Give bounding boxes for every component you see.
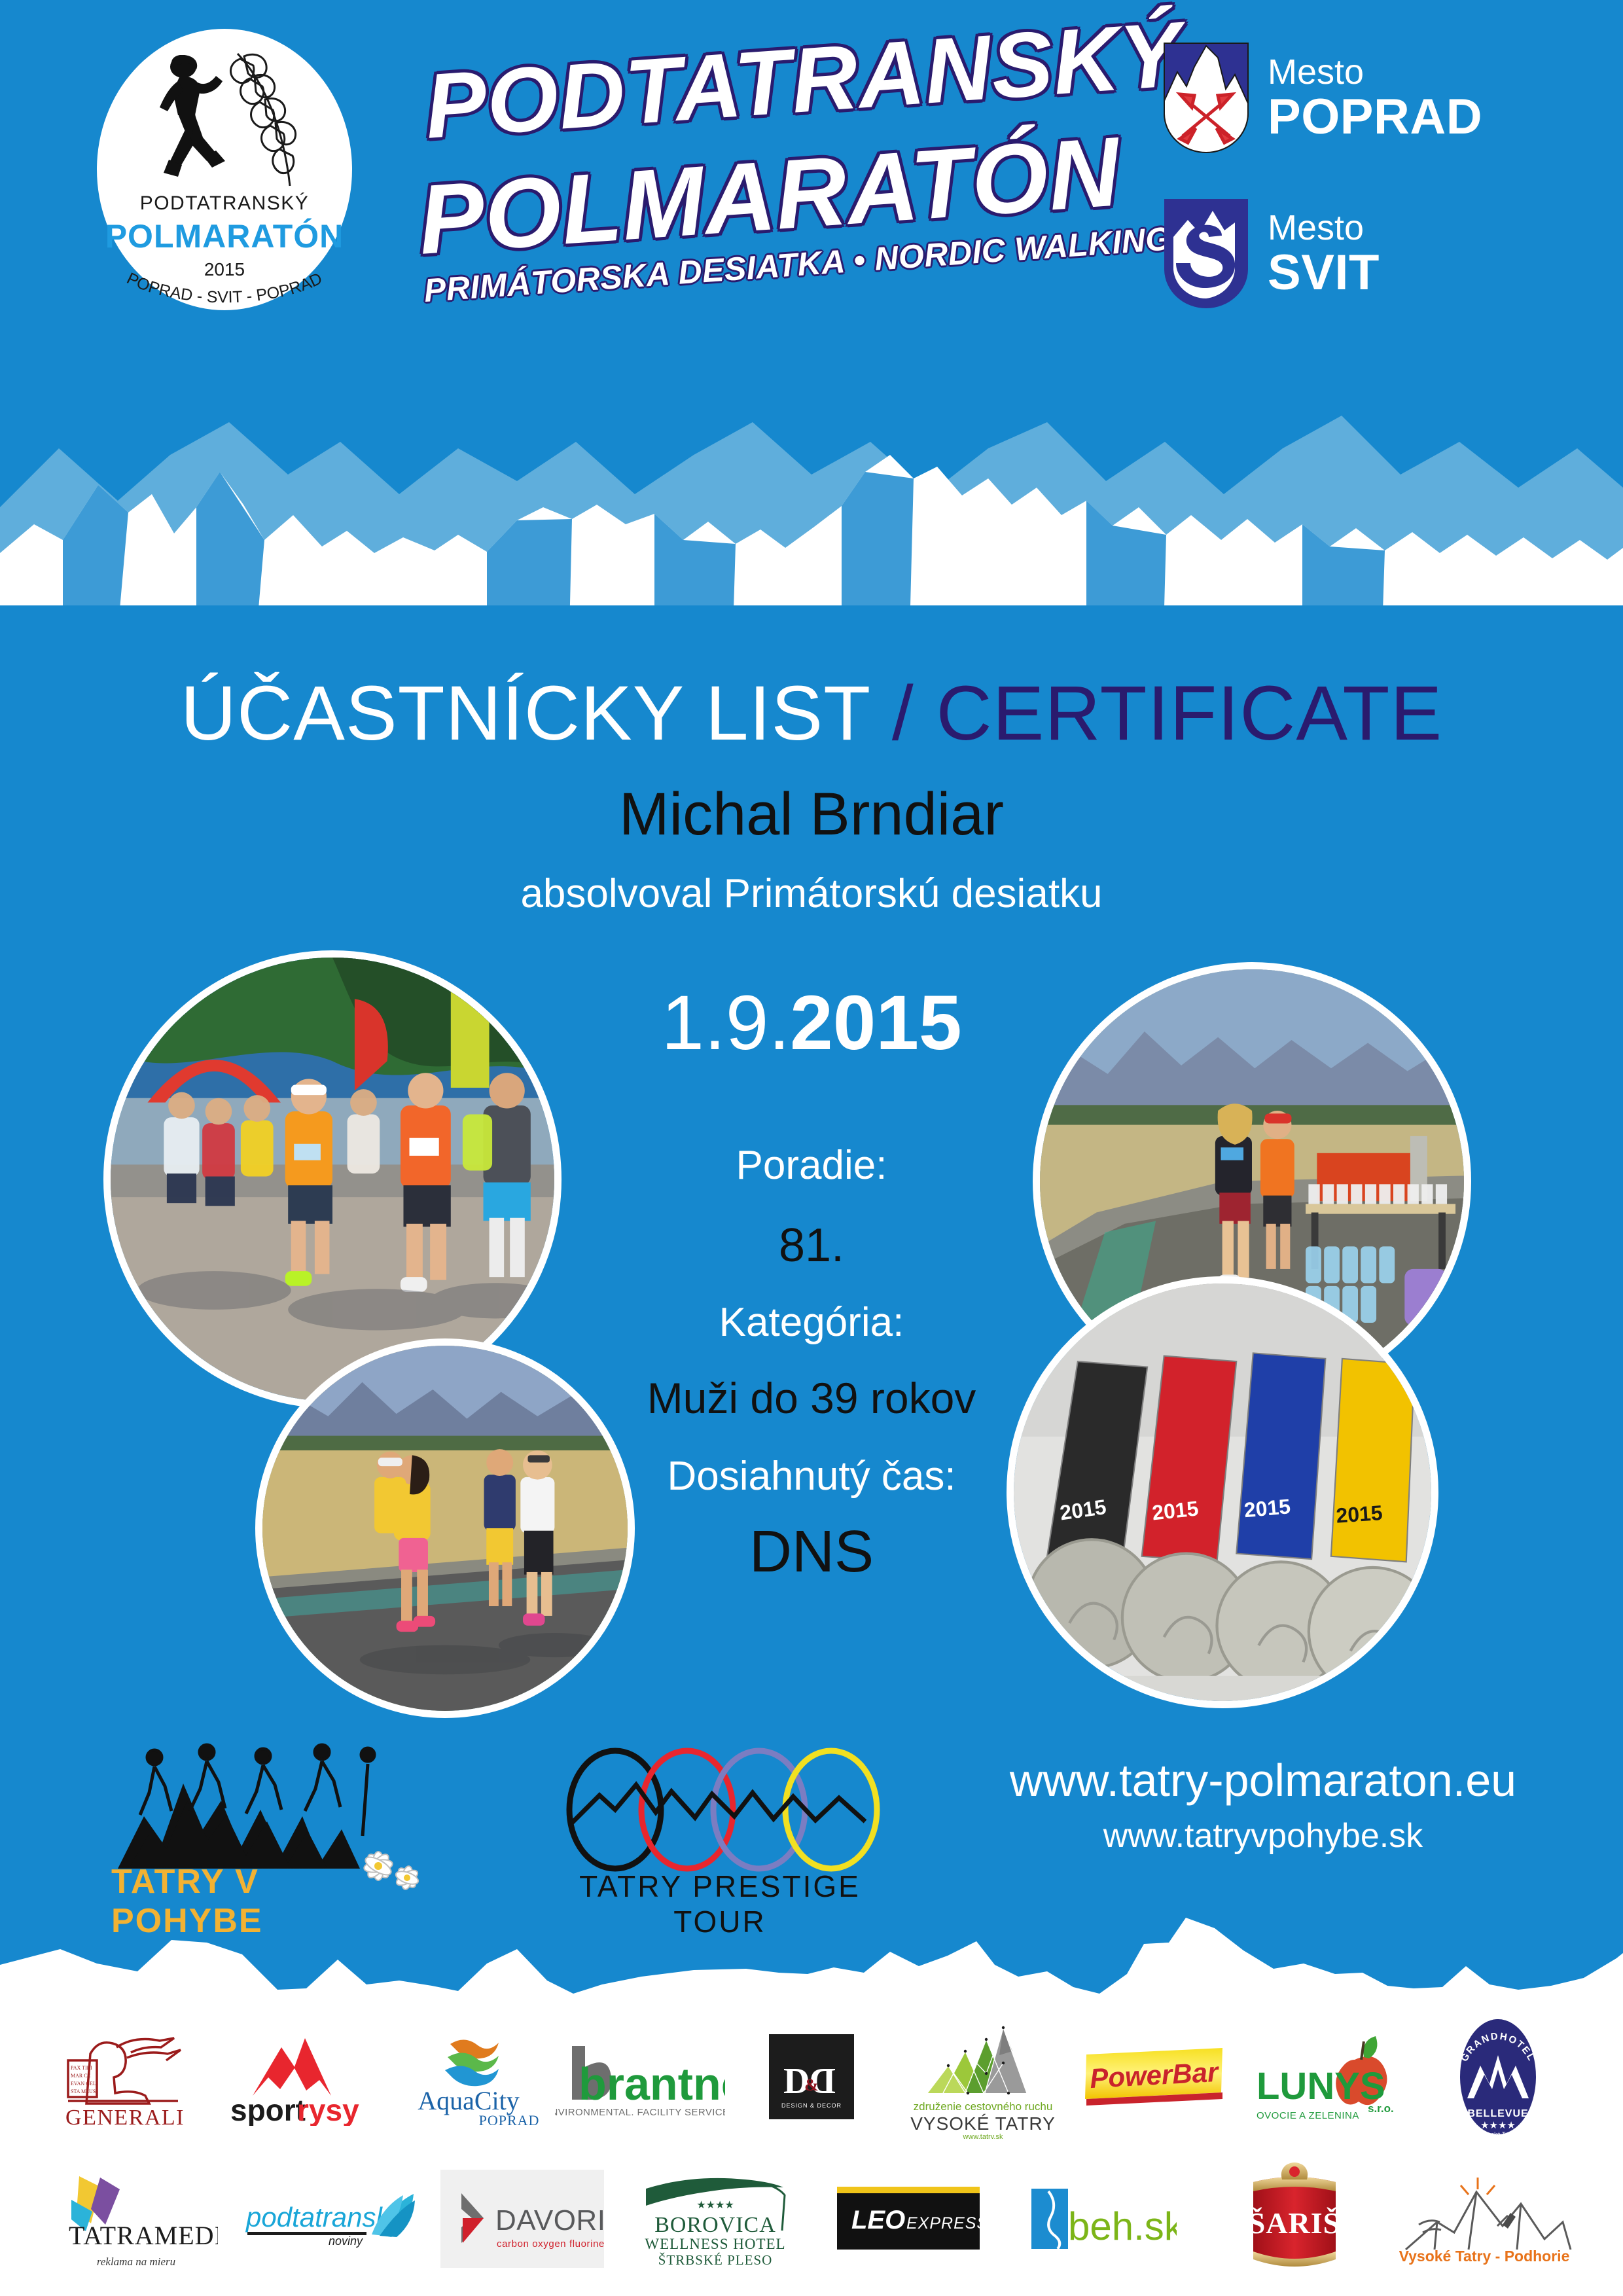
sponsor-vysoke-tatry-podhorie[interactable]: Vysoké Tatry - Podhorie <box>1391 2150 1584 2287</box>
sponsor-row-1: PAX TIBIMAR CE EVAN GELISTA MEUS GENERAL… <box>39 2003 1584 2150</box>
badge-line2: POLMARATÓN <box>97 217 352 255</box>
race-date-year: 2015 <box>790 980 962 1066</box>
vysoke-tatry-podhorie-logo-icon: Vysoké Tatry - Podhorie <box>1399 2170 1576 2268</box>
medals-photo: 2015 2015 2015 2015 <box>1007 1276 1438 1708</box>
sponsor-borovica-sub: WELLNESS HOTEL <box>645 2236 785 2252</box>
sponsor-aquacity-text: AquaCity <box>418 2086 520 2115</box>
sponsor-lunys-text: LUNYS <box>1257 2065 1385 2108</box>
svg-text:2015: 2015 <box>1243 1494 1291 1522</box>
behsk-logo-icon: beh.sk <box>1026 2179 1177 2258</box>
svit-coat-of-arms-icon <box>1162 196 1251 311</box>
sponsor-pn-sub: noviny <box>328 2234 363 2248</box>
sponsor-aquacity[interactable]: AquaCity POPRAD <box>382 2003 554 2150</box>
sponsor-brantner-text: brantner <box>579 2058 725 2109</box>
sponsor-lunys[interactable]: LUNYS s.r.o. OVOCIE A ZELENINA <box>1241 2003 1412 2150</box>
sponsor-davorin-sub: carbon oxygen fluorine <box>497 2238 604 2250</box>
sponsor-borovica[interactable]: ★★★★ BOROVICA WELLNESS HOTEL ŠTRBSKÉ PLE… <box>618 2150 811 2287</box>
svg-text:POPRAD - SVIT - POPRAD: POPRAD - SVIT - POPRAD <box>124 272 325 306</box>
svg-text:&: & <box>804 2075 819 2094</box>
page-title: ÚČASTNÍCKY LIST / CERTIFICATE <box>0 669 1623 758</box>
laurel-branch-icon <box>224 48 323 192</box>
badge-line1: PODTATRANSKÝ <box>97 192 352 215</box>
sponsor-tatramedia[interactable]: TATRAMEDIA reklama na mieru <box>39 2150 232 2287</box>
sponsor-behsk-text: beh.sk <box>1068 2204 1177 2248</box>
primary-website-url[interactable]: www.tatry-polmaraton.eu <box>936 1754 1590 1806</box>
sponsor-generali-text: GENERALI <box>65 2106 185 2130</box>
sponsor-tatramedia-text: TATRAMEDIA <box>69 2221 218 2250</box>
sponsor-powerbar[interactable]: PowerBar <box>1069 2003 1240 2150</box>
sponsor-saris[interactable]: ŠARIŠ <box>1198 2150 1391 2287</box>
sponsor-borovica-sub2: ŠTRBSKÉ PLESO <box>658 2252 772 2268</box>
countryside-runners-photo <box>255 1338 635 1718</box>
svg-text:★★★★: ★★★★ <box>696 2200 734 2211</box>
crest-poprad-city: POPRAD <box>1268 92 1482 142</box>
event-badge-logo: PODTATRANSKÝ POLMARATÓN 2015 POPRAD - SV… <box>97 29 352 310</box>
svg-text:rysy: rysy <box>297 2093 359 2126</box>
aquacity-logo-icon: AquaCity POPRAD <box>397 2024 541 2129</box>
brantner-logo-icon: brantner ENVIRONMENTAL. FACILITY SERVICE… <box>555 2034 725 2119</box>
sponsor-band: PAX TIBIMAR CE EVAN GELISTA MEUS GENERAL… <box>0 2003 1623 2296</box>
sponsor-podtatranske-noviny[interactable]: podtatranské noviny <box>232 2150 425 2287</box>
sponsor-generali[interactable]: PAX TIBIMAR CE EVAN GELISTA MEUS GENERAL… <box>39 2003 211 2150</box>
page-title-sk: ÚČASTNÍCKY LIST <box>181 670 892 757</box>
race-date-day-month: 1.9. <box>661 980 790 1066</box>
sponsor-lunys-sub: OVOCIE A ZELENINA <box>1257 2110 1359 2121</box>
svg-text:STA MEUS: STA MEUS <box>71 2089 96 2094</box>
crest-svit-prefix: Mesto <box>1268 210 1380 245</box>
svg-text:EVAN GELI: EVAN GELI <box>71 2081 98 2087</box>
vysoke-tatry-logo-icon: združenie cestovného ruchu VYSOKÉ TATRY … <box>908 2015 1058 2139</box>
grandhotel-bellevue-logo-icon: GRANDHOTEL BELLEVUE ★★★★ Vysoké Tatry <box>1455 2015 1541 2139</box>
sportrysy-logo-icon: sport rysy <box>221 2028 372 2126</box>
svg-text:PAX TIBI: PAX TIBI <box>71 2065 92 2071</box>
svg-text:MAR CE: MAR CE <box>71 2073 91 2079</box>
sponsor-brantner-sub: ENVIRONMENTAL. FACILITY SERVICES <box>555 2107 725 2118</box>
sponsor-aquacity-sub: POPRAD <box>478 2112 539 2128</box>
running-figure-icon <box>135 55 240 186</box>
sponsor-saris-text: ŠARIŠ <box>1248 2206 1340 2240</box>
event-title-block: PODTATRANSKÝ POLMARATÓN PRIMÁTORSKA DESI… <box>419 39 1113 314</box>
sponsor-borovica-text: BOROVICA <box>654 2213 776 2237</box>
borovica-logo-icon: ★★★★ BOROVICA WELLNESS HOTEL ŠTRBSKÉ PLE… <box>637 2166 794 2271</box>
crest-svit-city: SVIT <box>1268 248 1380 298</box>
sponsor-vtp-text: Vysoké Tatry - Podhorie <box>1399 2248 1569 2265</box>
page-title-en: CERTIFICATE <box>936 670 1442 757</box>
achievement-text: absolvoval Primátorskú desiatku <box>0 870 1623 917</box>
svg-text:2015: 2015 <box>1151 1496 1200 1524</box>
sponsor-lunys-sub2: s.r.o. <box>1368 2102 1394 2115</box>
dd-design-logo-icon: D D & DESIGN & DECOR <box>769 2034 854 2119</box>
sponsor-tatramedia-sub: reklama na mieru <box>96 2255 175 2268</box>
secondary-website-url[interactable]: www.tatryvpohybe.sk <box>936 1816 1590 1856</box>
sponsor-leo-express[interactable]: LEO EXPRESS <box>811 2150 1005 2287</box>
participant-name: Michal Brndiar <box>0 780 1623 849</box>
mountain-silhouette-band <box>0 344 1623 632</box>
sponsor-grandhotel-bellevue[interactable]: GRANDHOTEL BELLEVUE ★★★★ Vysoké Tatry <box>1412 2003 1584 2150</box>
crest-poprad-prefix: Mesto <box>1268 54 1482 90</box>
poprad-coat-of-arms-icon <box>1162 41 1251 155</box>
sponsor-davorin-text: DAVORIN <box>495 2204 604 2236</box>
race-start-photo <box>103 950 562 1408</box>
sponsor-vt-text: VYSOKÉ TATRY <box>910 2113 1056 2134</box>
sponsor-gh-text: BELLEVUE <box>1467 2108 1528 2119</box>
sponsor-vysoke-tatry[interactable]: združenie cestovného ruchu VYSOKÉ TATRY … <box>897 2003 1069 2150</box>
crest-poprad: Mesto POPRAD <box>1162 41 1482 155</box>
page-title-separator: / <box>892 670 936 757</box>
generali-logo-icon: PAX TIBIMAR CE EVAN GELISTA MEUS GENERAL… <box>56 2021 194 2132</box>
tatry-prestige-tour-rings-icon <box>543 1744 897 1875</box>
sponsor-leo-sub: EXPRESS <box>906 2214 984 2233</box>
sponsor-leo-text: LEO <box>851 2206 905 2234</box>
lunys-logo-icon: LUNYS s.r.o. OVOCIE A ZELENINA <box>1251 2031 1402 2123</box>
svg-text:★★★★: ★★★★ <box>1480 2120 1516 2131</box>
svg-text:sport: sport <box>230 2093 306 2126</box>
powerbar-logo-icon: PowerBar <box>1082 2044 1226 2109</box>
saris-logo-icon: ŠARIŠ <box>1245 2160 1344 2278</box>
crest-svit: Mesto SVIT <box>1162 196 1380 311</box>
sponsor-dd-sub: DESIGN & DECOR <box>781 2102 842 2109</box>
sponsor-vt-sub: združenie cestovného ruchu <box>914 2100 1053 2113</box>
bottom-jagged-edge <box>0 1872 1623 2022</box>
sponsor-sportrysy[interactable]: sport rysy <box>211 2003 382 2150</box>
sponsor-gh-sub2: Vysoké Tatry <box>1481 2131 1515 2138</box>
sponsor-brantner[interactable]: brantner ENVIRONMENTAL. FACILITY SERVICE… <box>554 2003 726 2150</box>
certificate-page: PODTATRANSKÝ POLMARATÓN 2015 POPRAD - SV… <box>0 0 1623 2296</box>
sponsor-behsk[interactable]: beh.sk <box>1005 2150 1198 2287</box>
tatramedia-logo-icon: TATRAMEDIA reklama na mieru <box>54 2163 218 2274</box>
leo-express-logo-icon: LEO EXPRESS <box>833 2183 984 2255</box>
sponsor-row-2: TATRAMEDIA reklama na mieru podtatranské… <box>39 2150 1584 2287</box>
sponsor-davorin[interactable]: DAVORIN carbon oxygen fluorine <box>425 2150 618 2287</box>
badge-route-arc: POPRAD - SVIT - POPRAD <box>97 272 352 314</box>
svg-text:2015: 2015 <box>1335 1501 1383 1528</box>
sponsor-dd-design[interactable]: D D & DESIGN & DECOR <box>726 2003 897 2150</box>
sponsor-vt-url: www.tatry.sk <box>963 2133 1003 2139</box>
page-header: PODTATRANSKÝ POLMARATÓN 2015 POPRAD - SV… <box>0 0 1623 353</box>
podtatranske-noviny-logo-icon: podtatranské noviny <box>241 2179 418 2258</box>
davorin-logo-icon: DAVORIN carbon oxygen fluorine <box>440 2170 604 2268</box>
